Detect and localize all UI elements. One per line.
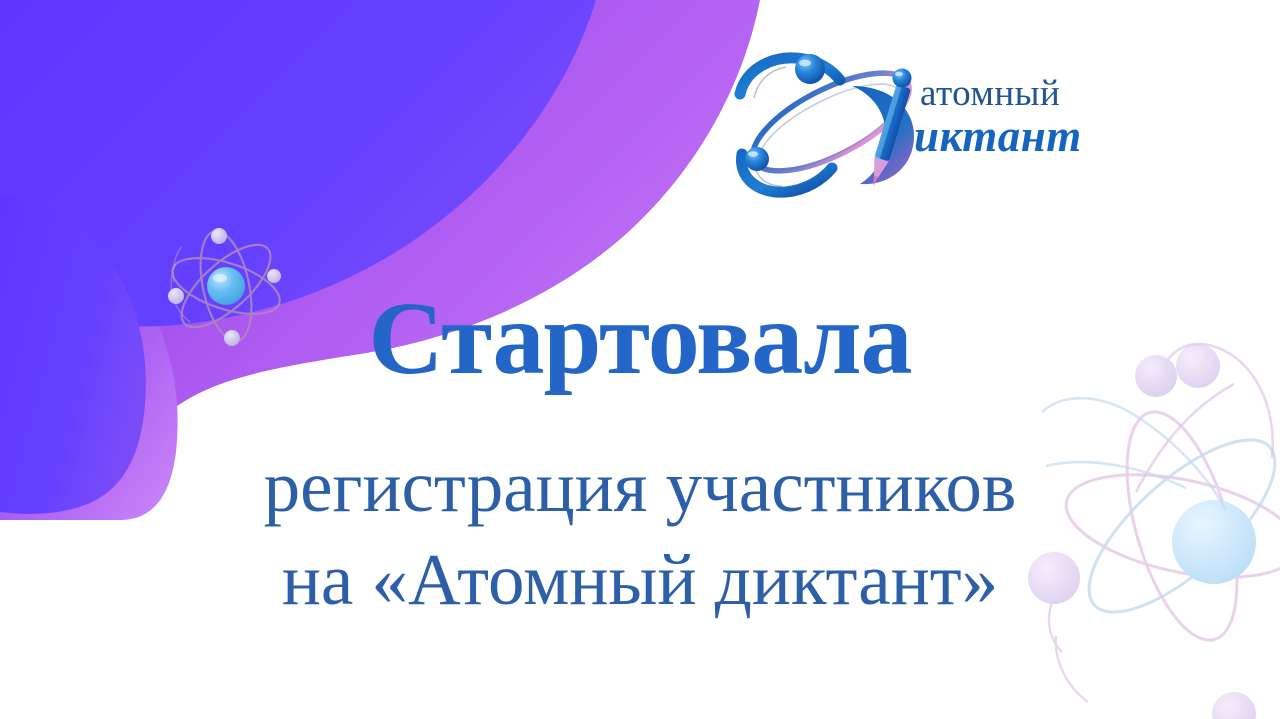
banner-canvas: атомный иктант [0,0,1280,719]
electron-sphere [795,54,825,84]
headline-block: Стартовала регистрация участников на «Ат… [0,286,1280,619]
logo-wordmark: атомный иктант [920,72,1130,182]
headline-line-1: Стартовала [0,286,1280,392]
logo-word-atomny: атомный [920,72,1060,115]
logo-atom-pen-icon [724,42,939,202]
electron-sphere [893,69,912,88]
headline-line-3: на «Атомный диктант» [0,525,1280,618]
logo: атомный иктант [724,42,1124,202]
headline-line-2: регистрация участников [0,392,1280,525]
logo-word-diktant: иктант [914,110,1082,162]
electron-sphere [745,147,769,171]
